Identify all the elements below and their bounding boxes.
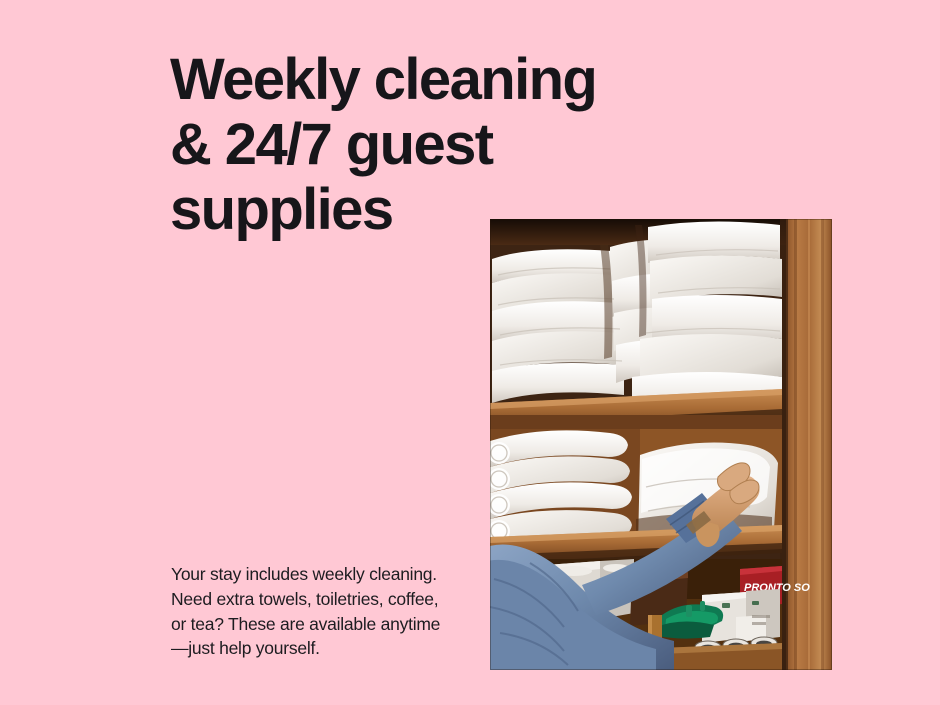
linen-closet-photo: PRONTO SO [490,219,832,670]
body-paragraph: Your stay includes weekly cleaning. Need… [171,562,471,661]
slide-canvas: Weekly cleaning & 24/7 guest supplies Yo… [0,0,940,705]
photo-illustration: PRONTO SO [490,219,832,670]
page-title: Weekly cleaning & 24/7 guest supplies [170,47,690,242]
